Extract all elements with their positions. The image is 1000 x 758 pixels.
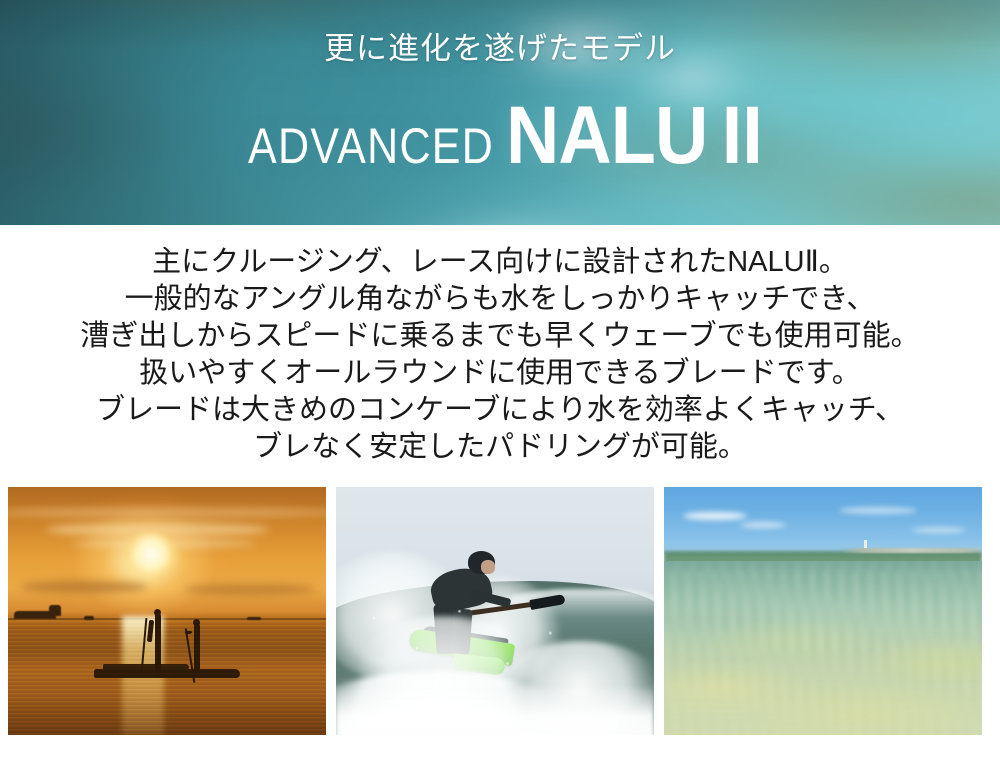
gallery-photo-sup-wave-surfing [336, 487, 654, 735]
hero-content: 更に進化を遂げたモデル ADVANCED NALUII [0, 0, 1000, 225]
description-line-1: 主にクルージング、レース向けに設計されたNALUⅡ。 [0, 244, 1000, 281]
product-promo-page: 更に進化を遂げたモデル ADVANCED NALUII 主にクルージング、レース… [0, 0, 1000, 758]
hero-title-numeral: II [722, 90, 763, 181]
product-description: 主にクルージング、レース向けに設計されたNALUⅡ。 一般的なアングル角ながらも… [0, 244, 1000, 466]
surfer-face [481, 560, 495, 573]
hero-tagline: 更に進化を遂げたモデル [0, 33, 1000, 64]
hero-title: ADVANCED NALUII [0, 95, 1000, 177]
lighthouse-icon [864, 540, 867, 548]
cloud [912, 527, 966, 533]
blue-sky [664, 487, 982, 554]
photo-gallery [8, 487, 992, 735]
distant-rock [49, 605, 61, 616]
distant-shoreline [842, 548, 982, 553]
description-line-6: ブレなく安定したパドリングが可能。 [0, 429, 1000, 466]
sunset-cloud-band [8, 507, 326, 518]
description-line-3: 漕ぎ出しからスピードに乗るまでも早くウェーブでも使用可能。 [0, 318, 1000, 355]
gallery-photo-clear-shallow-water [664, 487, 982, 735]
sunset-cloud-band [183, 584, 317, 595]
hero-title-prefix: ADVANCED [248, 121, 494, 171]
sun-icon [122, 532, 180, 576]
cloud [839, 507, 917, 514]
whitewater [336, 685, 654, 735]
distant-rock [247, 617, 261, 620]
gallery-photo-sunset-sup-paddlers [8, 487, 326, 735]
foreground-blur [664, 651, 982, 735]
hero-title-main: NALU [506, 90, 707, 181]
hero-banner: 更に進化を遂げたモデル ADVANCED NALUII [0, 0, 1000, 225]
description-line-5: ブレードは大きめのコンケーブにより水を効率よくキャッチ、 [0, 392, 1000, 429]
paddler-head [154, 609, 161, 616]
cloud [740, 522, 786, 528]
water-surface-texture [8, 621, 326, 735]
description-line-2: 一般的なアングル角ながらも水をしっかりキャッチでき、 [0, 281, 1000, 318]
cloud [683, 512, 747, 520]
hero-title-main-group: NALUII [506, 95, 763, 177]
description-line-4: 扱いやすくオールラウンドに使用できるブレードです。 [0, 355, 1000, 392]
